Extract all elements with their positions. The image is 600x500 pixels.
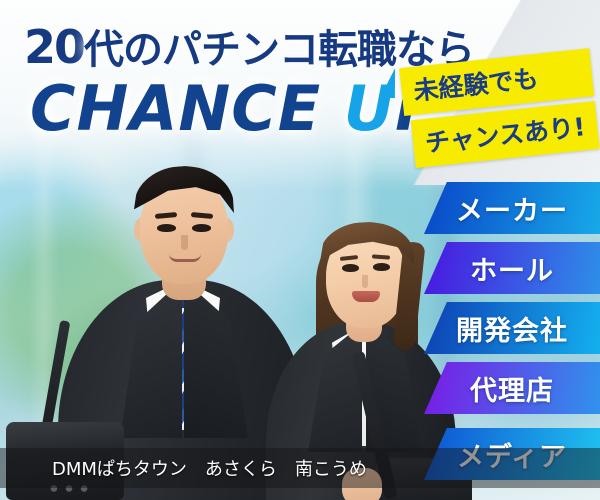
category-label-maker: メーカー <box>456 189 568 228</box>
category-button-hall[interactable]: ホール <box>424 242 600 294</box>
category-label-developer: 開発会社 <box>456 309 568 348</box>
category-label-hall: ホール <box>470 249 554 288</box>
advertisement-banner[interactable]: 20代のパチンコ転職なら CHANCE UP 未経験でも チャンスあり! メーカ… <box>0 0 600 500</box>
category-button-list: メーカー ホール 開発会社 代理店 メディア <box>0 0 600 500</box>
category-button-developer[interactable]: 開発会社 <box>424 302 600 354</box>
category-button-maker[interactable]: メーカー <box>424 182 600 234</box>
category-label-agency: 代理店 <box>470 369 554 408</box>
category-button-agency[interactable]: 代理店 <box>424 362 600 414</box>
credit-bar: DMMぱちタウン あさくら 南こうめ <box>0 448 600 488</box>
credit-text: DMMぱちタウン あさくら 南こうめ <box>52 455 367 481</box>
